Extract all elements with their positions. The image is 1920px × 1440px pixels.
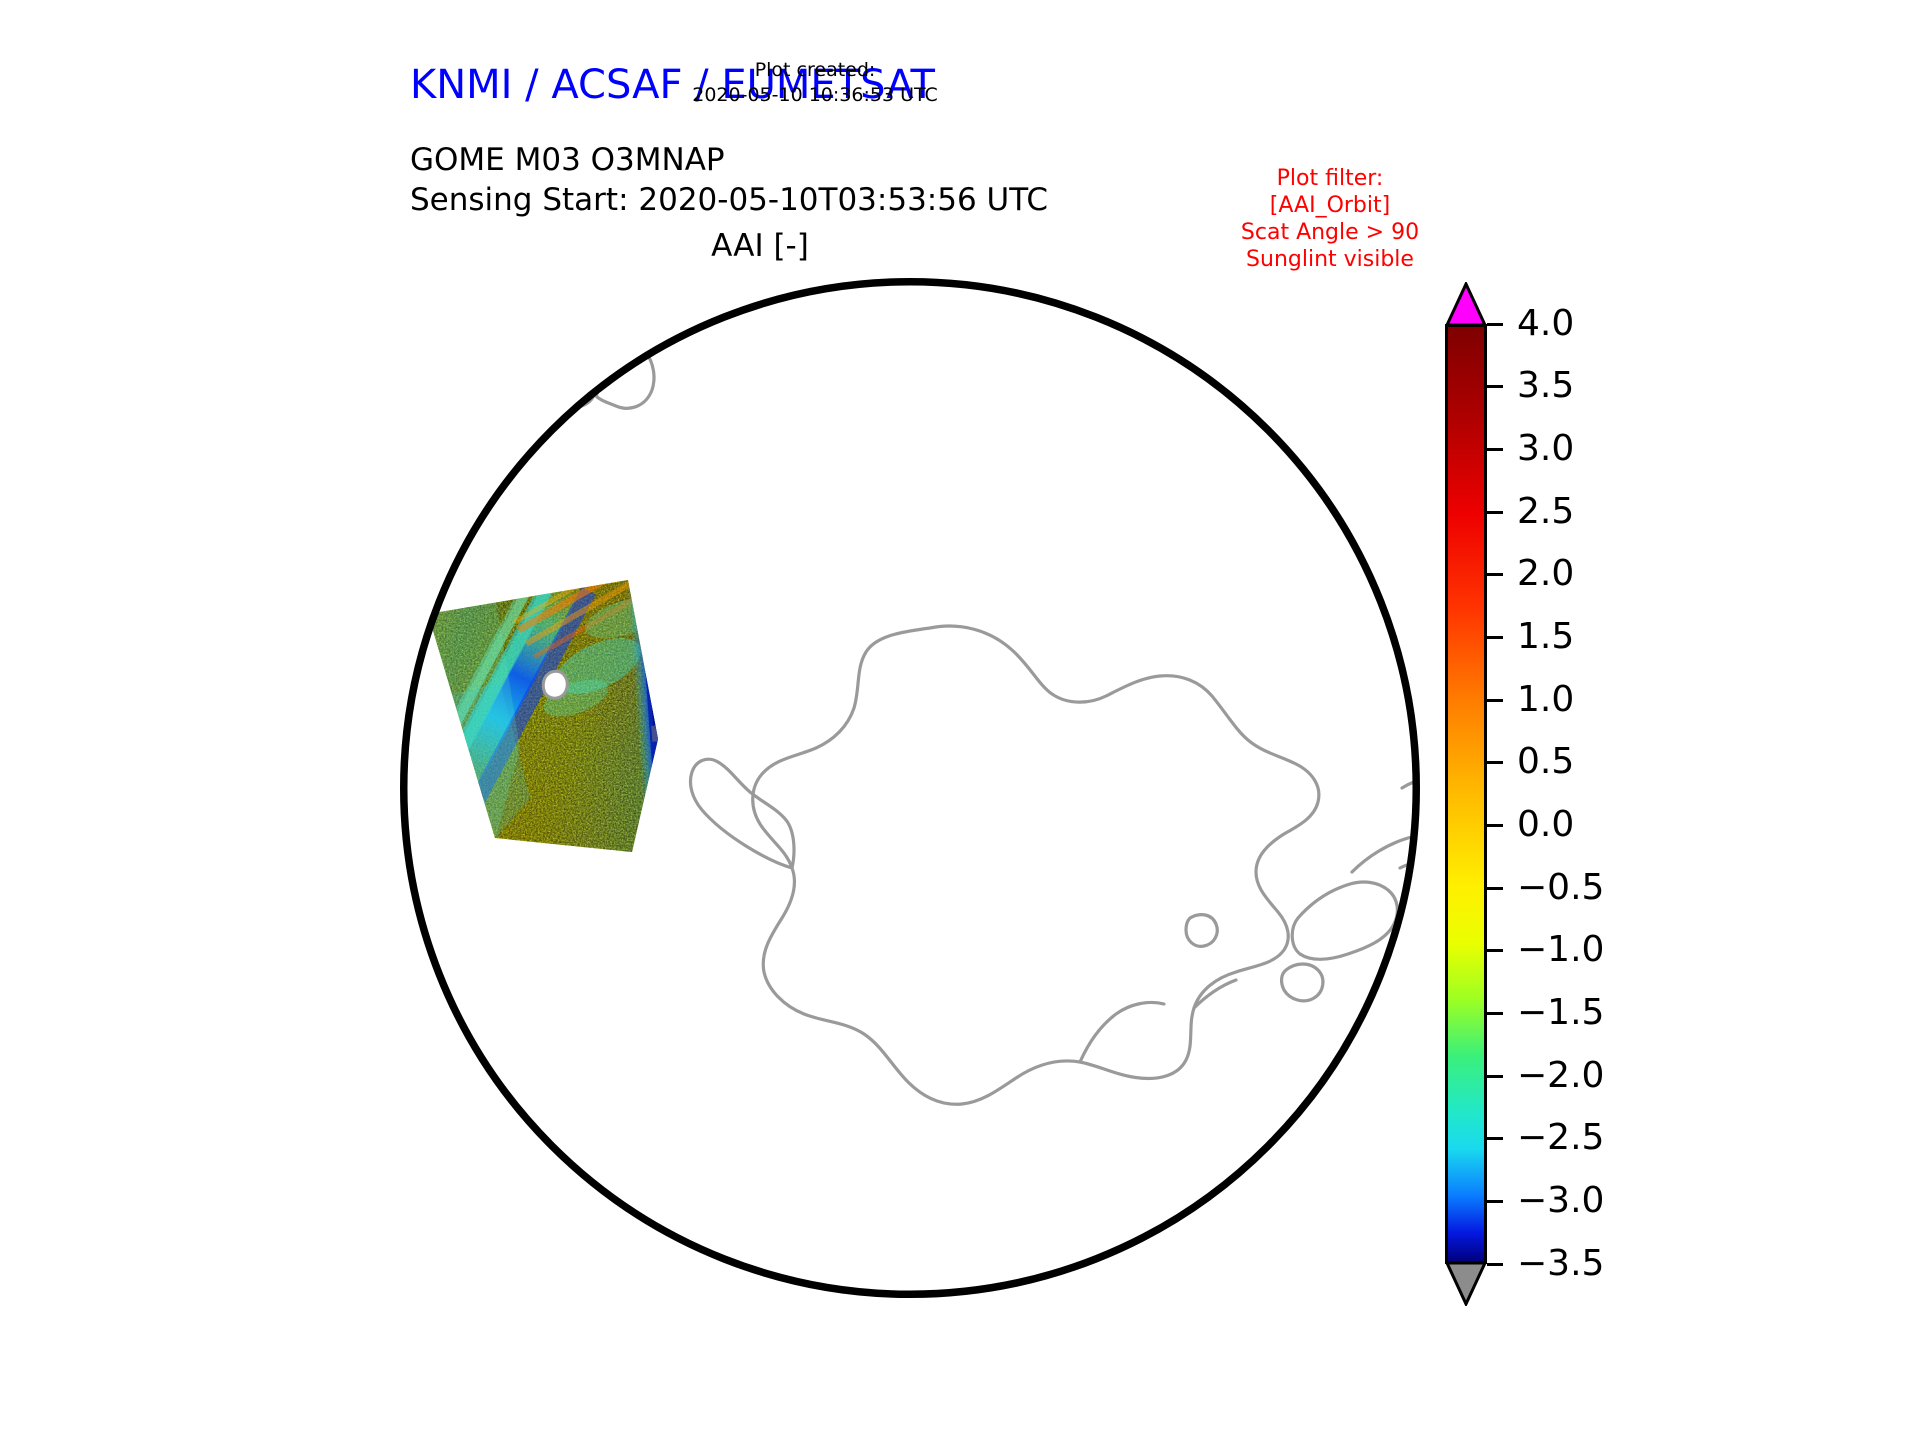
plot-filter-title: Plot filter:: [1180, 165, 1480, 192]
colorbar-tick-mark: [1487, 824, 1503, 827]
coastlines: [556, 282, 1430, 1104]
colorbar-tick-mark: [1487, 1075, 1503, 1078]
colorbar-tick-label: −0.5: [1517, 867, 1604, 908]
colorbar-tick-label: 3.5: [1517, 365, 1574, 406]
colorbar-tick-mark: [1487, 949, 1503, 952]
colorbar-tick-label: 1.0: [1517, 679, 1574, 720]
colorbar-tick-mark: [1487, 323, 1503, 326]
colorbar[interactable]: 4.03.53.02.52.01.51.00.50.0−0.5−1.0−1.5−…: [1445, 282, 1705, 1302]
colorbar-tick-mark: [1487, 1012, 1503, 1015]
dataset-name: GOME M03 O3MNAP: [410, 140, 1048, 180]
colorbar-tick-mark: [1487, 699, 1503, 702]
colorbar-tick-mark: [1487, 761, 1503, 764]
colorbar-tick-label: 2.0: [1517, 553, 1574, 594]
colorbar-tick-mark: [1487, 887, 1503, 890]
plot-created-timestamp: 2020-05-10 10:36:53 UTC: [635, 83, 995, 108]
plot-filter-line: Sunglint visible: [1180, 246, 1480, 273]
colorbar-tick-mark: [1487, 1137, 1503, 1140]
colorbar-tick-label: 0.5: [1517, 741, 1574, 782]
colorbar-tick-label: 4.0: [1517, 303, 1574, 344]
colorbar-body: [1445, 324, 1487, 1264]
plot-filter-line: Scat Angle > 90: [1180, 219, 1480, 246]
plot-created-block: Plot created: 2020-05-10 10:36:53 UTC: [635, 58, 995, 108]
colorbar-tick-label: −2.0: [1517, 1055, 1604, 1096]
colorbar-tick-mark: [1487, 573, 1503, 576]
colorbar-tick-mark: [1487, 1200, 1503, 1203]
colorbar-tick-label: 2.5: [1517, 491, 1574, 532]
colorbar-tick-label: 1.5: [1517, 616, 1574, 657]
map-svg: [400, 278, 1430, 1308]
map-area[interactable]: [400, 278, 1430, 1308]
island-in-swath: [543, 671, 567, 698]
colorbar-gradient: [1448, 327, 1484, 1261]
plot-canvas: KNMI / ACSAF / EUMETSAT Plot created: 20…: [0, 0, 1920, 1440]
colorbar-tick-mark: [1487, 1263, 1503, 1266]
colorbar-tick-label: −3.0: [1517, 1180, 1604, 1221]
sensing-start: Sensing Start: 2020-05-10T03:53:56 UTC: [410, 180, 1048, 220]
colorbar-ticks: 4.03.53.02.52.01.51.00.50.0−0.5−1.0−1.5−…: [1487, 324, 1697, 1264]
colorbar-tick-label: −1.0: [1517, 929, 1604, 970]
colorbar-tick-label: −3.5: [1517, 1243, 1604, 1284]
colorbar-tick-label: 0.0: [1517, 804, 1574, 845]
colorbar-tick-mark: [1487, 448, 1503, 451]
colorbar-over-arrow: [1445, 282, 1487, 326]
quantity-title: AAI [-]: [410, 228, 1110, 264]
colorbar-under-arrow: [1445, 1262, 1487, 1306]
colorbar-tick-mark: [1487, 511, 1503, 514]
colorbar-tick-mark: [1487, 385, 1503, 388]
colorbar-tick-label: 3.0: [1517, 428, 1574, 469]
colorbar-tick-label: −2.5: [1517, 1117, 1604, 1158]
plot-filter-block: Plot filter: [AAI_Orbit] Scat Angle > 90…: [1180, 165, 1480, 273]
plot-filter-line: [AAI_Orbit]: [1180, 192, 1480, 219]
colorbar-tick-mark: [1487, 636, 1503, 639]
plot-created-label: Plot created:: [635, 58, 995, 83]
colorbar-tick-label: −1.5: [1517, 992, 1604, 1033]
dataset-info: GOME M03 O3MNAP Sensing Start: 2020-05-1…: [410, 140, 1048, 220]
